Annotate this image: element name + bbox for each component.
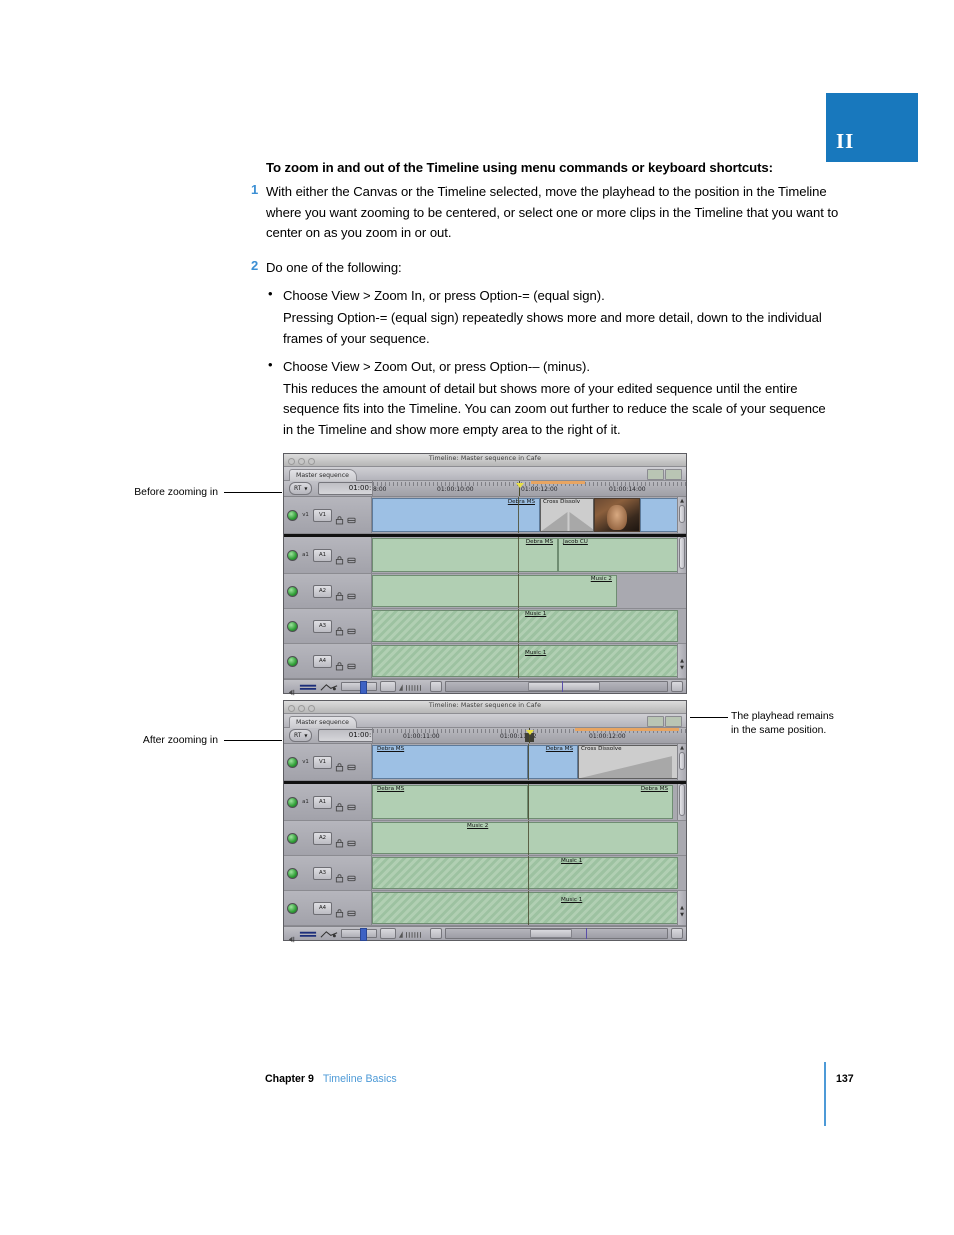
sequence-tab[interactable]: Master sequence [289, 716, 357, 728]
lock-icon[interactable] [335, 797, 344, 807]
track-body-a3[interactable]: Music 1 [372, 856, 686, 890]
clip-label: Music 2 [589, 576, 614, 582]
track-height-icon[interactable] [299, 677, 317, 696]
rt-label: RT [294, 730, 301, 741]
clip-keyframes-icon[interactable] [320, 924, 338, 943]
vertical-scrollbar[interactable]: ▲ ▼ [677, 644, 686, 678]
track-row-a2[interactable]: A2 Music 2 [284, 821, 686, 856]
step-1-number: 1 [251, 182, 258, 197]
dest-button-a4[interactable]: A4 [313, 902, 332, 915]
zoom-slider-thumb[interactable] [360, 681, 367, 694]
window-layout-buttons[interactable] [647, 716, 682, 727]
track-header-a2[interactable]: A2 [284, 821, 372, 855]
dest-button-a3[interactable]: A3 [313, 620, 332, 633]
track-header-v1[interactable]: v1 V1 [284, 744, 372, 780]
callout-playhead-note: The playhead remains in the same positio… [731, 710, 834, 738]
bullet-dot-icon: • [268, 357, 273, 372]
window-title: Timeline: Master sequence in Cafe [284, 702, 686, 709]
bullet-list: • Choose View > Zoom In, or press Option… [266, 286, 839, 440]
lock-icon[interactable] [335, 757, 344, 767]
clip-label: Debra MS [375, 746, 406, 752]
scroll-up-icon[interactable]: ▲ [679, 745, 685, 751]
clip-debra-ms-audio[interactable]: Debra MS [372, 785, 528, 819]
clip-label: Debra MS [639, 786, 670, 792]
clip-debra-ms[interactable]: Debra MS [372, 745, 528, 779]
playhead-line [518, 609, 519, 643]
step-1-text: With either the Canvas or the Timeline s… [266, 182, 839, 244]
clip-overlays-icon[interactable] [287, 929, 296, 939]
track-audible-icon[interactable] [287, 656, 298, 667]
chevron-down-icon: ▼ [304, 483, 307, 494]
auto-select-icon[interactable] [347, 621, 356, 631]
track-header-a1[interactable]: a1 A1 [284, 537, 372, 573]
scrollbar-marker [586, 928, 587, 939]
track-row-a3[interactable]: A3 Music 1 [284, 856, 686, 891]
auto-select-icon[interactable] [347, 550, 356, 560]
auto-select-icon[interactable] [347, 868, 356, 878]
clip-label: Music 1 [559, 858, 584, 864]
track-area: v1 V1 Debra MS Cross Dissolv [284, 497, 686, 679]
sequence-tab[interactable]: Master sequence [289, 469, 357, 481]
track-height-icon[interactable] [647, 469, 664, 480]
clip-label: Music 1 [523, 611, 548, 617]
vertical-scrollbar[interactable] [677, 537, 686, 573]
callout-playhead-note-line1: The playhead remains [731, 710, 834, 724]
track-row-v1[interactable]: v1 V1 Debra MS Cross Dissolv [284, 497, 686, 534]
clip-label: Debra MS [524, 539, 555, 545]
callout-after-zooming: After zooming in [122, 734, 218, 748]
horizontal-scrollbar[interactable] [445, 928, 668, 939]
scrollbar-thumb[interactable] [679, 784, 685, 816]
dest-button-a3[interactable]: A3 [313, 867, 332, 880]
track-header-a3[interactable]: A3 [284, 856, 372, 890]
clip-music-2[interactable]: Music 2 [372, 822, 678, 854]
track-audible-icon[interactable] [287, 586, 298, 597]
playhead-line [518, 574, 519, 608]
track-body-a3[interactable]: Music 1 [372, 609, 686, 643]
dest-button-v1[interactable]: V1 [313, 509, 332, 522]
sequence-tab-bar[interactable]: Master sequence [284, 467, 686, 481]
scroll-up-icon[interactable]: ▲ [679, 658, 685, 664]
track-audible-icon[interactable] [287, 797, 298, 808]
vertical-scrollbar[interactable]: ▲ ▼ [677, 891, 686, 925]
transition-cross-dissolve[interactable]: Cross Dissolve [578, 745, 678, 779]
scroll-left-button[interactable] [430, 928, 442, 939]
playhead-line [528, 744, 529, 780]
track-header-a4[interactable]: A4 [284, 891, 372, 925]
scroll-right-button[interactable] [671, 928, 683, 939]
clip-jacob-cu-audio[interactable]: Jacob CU [558, 538, 678, 572]
track-height-icon[interactable] [299, 924, 317, 943]
auto-select-icon[interactable] [347, 757, 356, 767]
ruler-label-0: 8:00 [373, 486, 386, 493]
ruler-label-0: 01:00:11:00 [403, 733, 440, 740]
clip-label: Music 1 [523, 650, 548, 656]
track-header-a3[interactable]: A3 [284, 609, 372, 643]
source-label-a1: a1 [301, 552, 310, 558]
clip-label: Debra MS [506, 499, 537, 505]
track-visibility-icon[interactable] [287, 757, 298, 768]
track-row-a3[interactable]: A3 Music 1 [284, 609, 686, 644]
render-status-bar [575, 728, 679, 731]
rt-label: RT [294, 483, 301, 494]
rt-popup-button[interactable]: RT ▼ [289, 729, 312, 742]
dest-button-a2[interactable]: A2 [313, 585, 332, 598]
scroll-down-icon[interactable]: ▼ [679, 912, 685, 918]
playhead-line [528, 856, 529, 890]
track-header-a4[interactable]: A4 [284, 644, 372, 678]
playhead-line [528, 891, 529, 925]
lock-icon[interactable] [335, 510, 344, 520]
track-audible-icon[interactable] [287, 550, 298, 561]
step-2-number: 2 [251, 258, 258, 273]
timeline-toolbar[interactable]: RT ▼ 01:00:11:14 01:00:11:00 01:00:11:12… [284, 728, 686, 744]
lock-icon[interactable] [335, 621, 344, 631]
track-body-v1[interactable]: Debra MS Cross Dissolv Jacob CU [372, 497, 686, 533]
clip-debra-ms-audio-2[interactable]: Debra MS [528, 785, 673, 819]
track-audible-icon[interactable] [287, 833, 298, 844]
lock-icon[interactable] [335, 903, 344, 913]
ruler-label-1: 01:00:10:00 [437, 486, 474, 493]
auto-select-icon[interactable] [347, 797, 356, 807]
timeline-window-before[interactable]: Timeline: Master sequence in Cafe Master… [283, 453, 687, 694]
zoom-slider[interactable] [341, 929, 377, 938]
lock-icon[interactable] [335, 586, 344, 596]
track-body-a2[interactable]: Music 2 [372, 574, 686, 608]
zoom-ramp-icon[interactable] [399, 677, 427, 696]
footer-section: Timeline Basics [323, 1073, 397, 1085]
track-header-a1[interactable]: a1 A1 [284, 784, 372, 820]
title-bar[interactable]: Timeline: Master sequence in Cafe [284, 454, 686, 467]
transition-label: Cross Dissolve [581, 746, 622, 752]
title-bar[interactable]: Timeline: Master sequence in Cafe [284, 701, 686, 714]
timeline-toolbar[interactable]: RT ▼ 01:00:11:14 8:00 01:00:10:00 01:00:… [284, 481, 686, 497]
ruler-label-2: 01:00:12:00 [589, 733, 626, 740]
ruler-label-3: 01:00:14:00 [609, 486, 646, 493]
ruler-label-2: 01:00:12:00 [521, 486, 558, 493]
clip-label: Music 1 [559, 897, 584, 903]
bullet-zoom-out: • Choose View > Zoom Out, or press Optio… [266, 357, 839, 378]
track-body-a4[interactable]: Music 1 ▲ ▼ [372, 891, 686, 925]
scroll-up-icon[interactable]: ▲ [679, 498, 685, 504]
callout-before-leader [224, 492, 282, 493]
playhead-line [528, 821, 529, 855]
bullet-zoom-out-text: Choose View > Zoom Out, or press Option-… [283, 357, 839, 378]
bullet-zoom-in-detail: Pressing Option-= (equal sign) repeatedl… [283, 308, 839, 349]
clip-keyframes-icon[interactable] [320, 677, 338, 696]
auto-select-icon[interactable] [347, 656, 356, 666]
playhead-icon[interactable] [529, 728, 530, 743]
step-2: 2 Do one of the following: [249, 258, 839, 279]
track-row-a1[interactable]: a1 A1 Debra MS Debra MS [284, 784, 686, 821]
track-row-a4[interactable]: A4 Music 1 ▲ ▼ [284, 644, 686, 679]
zoom-control-button[interactable] [380, 928, 396, 939]
playhead-icon[interactable] [519, 481, 520, 496]
callout-playhead-leader [690, 717, 728, 718]
zoom-control-button[interactable] [380, 681, 396, 692]
horizontal-scrollbar-thumb[interactable] [530, 929, 572, 938]
track-body-a1[interactable]: Debra MS Debra MS [372, 784, 686, 820]
rt-popup-button[interactable]: RT ▼ [289, 482, 312, 495]
clip-debra-ms[interactable]: Debra MS [372, 498, 540, 532]
timeline-window-after[interactable]: Timeline: Master sequence in Cafe Master… [283, 700, 687, 941]
clip-debra-ms-audio[interactable]: Debra MS [372, 538, 558, 572]
source-label-v1: v1 [301, 759, 310, 765]
footer: Chapter 9Timeline Basics [265, 1073, 397, 1085]
clip-label: Music 2 [465, 823, 490, 829]
auto-select-icon[interactable] [347, 510, 356, 520]
scrollbar-thumb[interactable] [679, 752, 685, 770]
render-status-bar [531, 481, 585, 484]
horizontal-scrollbar-thumb[interactable] [528, 682, 600, 691]
bullet-dot-icon: • [268, 286, 273, 301]
scrollbar-marker [562, 681, 563, 692]
source-label-a1: a1 [301, 799, 310, 805]
clip-music-1-a4[interactable]: Music 1 [372, 892, 678, 924]
lock-icon[interactable] [335, 550, 344, 560]
dest-button-a4[interactable]: A4 [313, 655, 332, 668]
track-header-v1[interactable]: v1 V1 [284, 497, 372, 533]
track-visibility-icon[interactable] [287, 510, 298, 521]
zoom-slider[interactable] [341, 682, 377, 691]
vertical-scrollbar[interactable] [677, 784, 686, 820]
clip-label: Debra MS [375, 786, 406, 792]
dest-button-v1[interactable]: V1 [313, 756, 332, 769]
bullet-zoom-in-text: Choose View > Zoom In, or press Option-=… [283, 286, 839, 307]
clip-music-1-a3[interactable]: Music 1 [372, 857, 678, 889]
chevron-down-icon: ▼ [304, 730, 307, 741]
scrollbar-thumb[interactable] [679, 505, 685, 523]
clip-music-1-a4[interactable]: Music 1 [372, 645, 678, 677]
clip-debra-ms-2[interactable]: Debra MS [528, 745, 578, 779]
window-layout-buttons[interactable] [647, 469, 682, 480]
auto-select-icon[interactable] [347, 903, 356, 913]
dest-button-a1[interactable]: A1 [313, 796, 332, 809]
playhead-line [518, 537, 519, 573]
zoom-ramp-icon[interactable] [399, 924, 427, 943]
transition-wedge-icon [541, 509, 594, 531]
auto-select-icon[interactable] [347, 833, 356, 843]
track-layout-icon[interactable] [665, 469, 682, 480]
dest-button-a2[interactable]: A2 [313, 832, 332, 845]
track-row-v1[interactable]: v1 V1 Debra MS Debra MS [284, 744, 686, 781]
chapter-tab: II [826, 93, 918, 162]
scroll-up-icon[interactable]: ▲ [679, 905, 685, 911]
manual-page: II To zoom in and out of the Timeline us… [0, 0, 954, 1235]
vertical-scrollbar[interactable]: ▲ [677, 497, 686, 533]
horizontal-scrollbar[interactable] [445, 681, 668, 692]
callout-after-leader [224, 740, 282, 741]
lock-icon[interactable] [335, 868, 344, 878]
footer-rule [824, 1062, 826, 1126]
transition-label: Cross Dissolv [543, 499, 580, 505]
clip-music-1-a3[interactable]: Music 1 [372, 610, 678, 642]
playhead-line [518, 644, 519, 678]
source-label-v1: v1 [301, 512, 310, 518]
scroll-down-icon[interactable]: ▼ [679, 665, 685, 671]
track-body-v1[interactable]: Debra MS Debra MS Cross Dissolve ▲ [372, 744, 686, 780]
track-layout-icon[interactable] [665, 716, 682, 727]
footer-chapter: Chapter 9 [265, 1073, 314, 1085]
window-title: Timeline: Master sequence in Cafe [284, 455, 686, 462]
chapter-tab-number: II [836, 129, 854, 154]
track-area: v1 V1 Debra MS Debra MS [284, 744, 686, 926]
timeline-ruler[interactable]: 01:00:11:00 01:00:11:12 01:00:12:00 [372, 728, 686, 743]
bullet-zoom-in: • Choose View > Zoom In, or press Option… [266, 286, 839, 307]
timeline-ruler[interactable]: 8:00 01:00:10:00 01:00:12:00 01:00:14:00 [372, 481, 686, 496]
clip-jacob-cu-body[interactable] [640, 498, 678, 532]
clip-overlays-icon[interactable] [287, 682, 296, 692]
scroll-right-button[interactable] [671, 681, 683, 692]
track-audible-icon[interactable] [287, 903, 298, 914]
clip-label: Debra MS [544, 746, 575, 752]
vertical-scrollbar[interactable]: ▲ [677, 744, 686, 780]
track-header-a2[interactable]: A2 [284, 574, 372, 608]
dest-button-a1[interactable]: A1 [313, 549, 332, 562]
track-body-a2[interactable]: Music 2 [372, 821, 686, 855]
transition-wedge-icon [579, 756, 672, 778]
clip-label: Jacob CU [561, 539, 590, 545]
timeline-bottom-bar[interactable] [284, 926, 686, 940]
track-row-a1[interactable]: a1 A1 Debra MS Jacob CU [284, 537, 686, 574]
body-content: To zoom in and out of the Timeline using… [249, 160, 839, 441]
transition-cross-dissolve[interactable]: Cross Dissolv [540, 498, 594, 532]
track-audible-icon[interactable] [287, 621, 298, 632]
step-1: 1 With either the Canvas or the Timeline… [249, 182, 839, 244]
clip-music-2[interactable]: Music 2 [372, 575, 617, 607]
step-2-text: Do one of the following: [266, 258, 839, 279]
track-row-a4[interactable]: A4 Music 1 ▲ ▼ [284, 891, 686, 926]
track-row-a2[interactable]: A2 Music 2 [284, 574, 686, 609]
page-number: 137 [836, 1073, 854, 1085]
scrollbar-thumb[interactable] [679, 537, 685, 569]
timeline-bottom-bar[interactable] [284, 679, 686, 693]
bullet-zoom-out-detail: This reduces the amount of detail but sh… [283, 379, 839, 441]
callout-playhead-note-line2: in the same position. [731, 724, 834, 738]
scroll-left-button[interactable] [430, 681, 442, 692]
playhead-line [528, 784, 529, 820]
playhead-line [518, 497, 519, 533]
track-height-icon[interactable] [647, 716, 664, 727]
zoom-slider-thumb[interactable] [360, 928, 367, 941]
page-title: To zoom in and out of the Timeline using… [266, 160, 839, 175]
lock-icon[interactable] [335, 656, 344, 666]
auto-select-icon[interactable] [347, 586, 356, 596]
track-audible-icon[interactable] [287, 868, 298, 879]
sequence-tab-bar[interactable]: Master sequence [284, 714, 686, 728]
track-body-a4[interactable]: Music 1 ▲ ▼ [372, 644, 686, 678]
lock-icon[interactable] [335, 833, 344, 843]
callout-before-zooming: Before zooming in [112, 486, 218, 500]
track-body-a1[interactable]: Debra MS Jacob CU [372, 537, 686, 573]
